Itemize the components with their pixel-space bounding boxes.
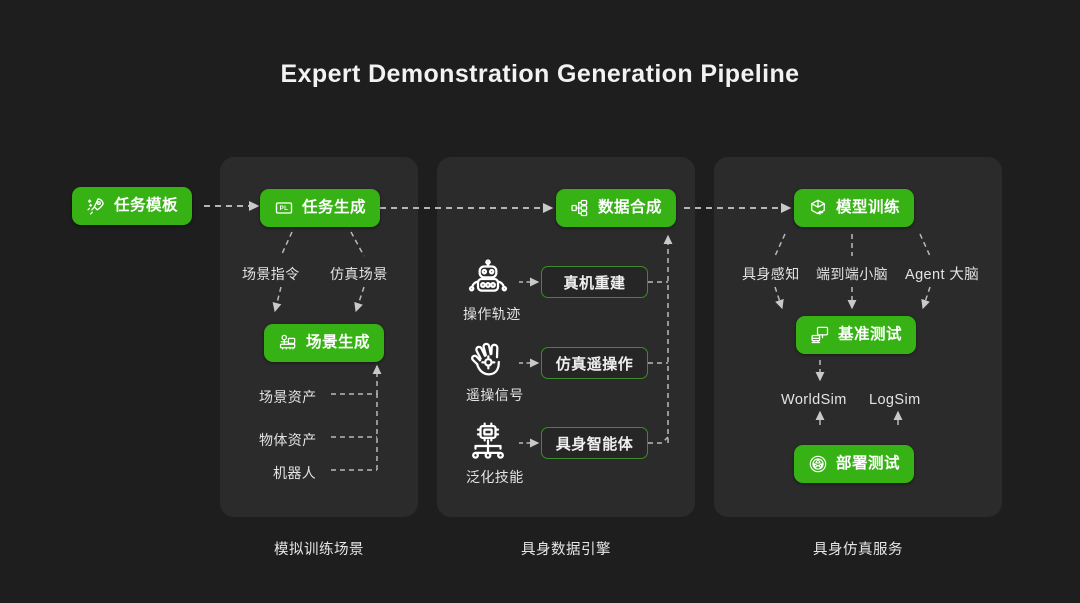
label-operation-trajectory: 操作轨迹: [463, 304, 521, 324]
node-label: 数据合成: [598, 200, 662, 216]
caption-panel-1: 模拟训练场景: [220, 538, 418, 559]
box-real-machine-reconstruction[interactable]: 真机重建: [541, 266, 648, 298]
svg-text:PL: PL: [280, 205, 289, 212]
rocket-icon: [86, 196, 106, 216]
label-sim-scene: 仿真场景: [330, 264, 388, 284]
data-flow-icon: [570, 198, 590, 218]
scene-robot-icon: [278, 333, 298, 353]
task-frame-icon: PL: [274, 198, 294, 218]
node-label: 基准测试: [838, 327, 902, 343]
caption-panel-2: 具身数据引擎: [437, 538, 695, 559]
node-label: 场景生成: [306, 335, 370, 351]
node-benchmark-test[interactable]: 基准测试: [796, 316, 916, 354]
page-title: Expert Demonstration Generation Pipeline: [0, 60, 1080, 89]
node-task-generation[interactable]: PL 任务生成: [260, 189, 380, 227]
node-deployment-test[interactable]: 部署测试: [794, 445, 914, 483]
label-logsim: LogSim: [869, 392, 921, 408]
label-robot: 机器人: [273, 463, 316, 483]
label-end-to-end-cerebellum: 端到端小脑: [816, 264, 888, 284]
box-simulated-teleoperation[interactable]: 仿真遥操作: [541, 347, 648, 379]
glove-icon: [468, 340, 508, 380]
recycle-circle-icon: [808, 454, 828, 474]
chip-network-icon: [468, 422, 508, 462]
pipeline-diagram: Expert Demonstration Generation Pipeline: [0, 0, 1080, 603]
box-embodied-agent[interactable]: 具身智能体: [541, 427, 648, 459]
node-label: 任务生成: [302, 200, 366, 216]
node-label: 部署测试: [836, 456, 900, 472]
node-label: 模型训练: [836, 200, 900, 216]
node-model-training[interactable]: 模型训练: [794, 189, 914, 227]
label-scene-instruction: 场景指令: [242, 264, 300, 284]
label-embodied-perception: 具身感知: [742, 264, 800, 284]
caption-panel-3: 具身仿真服务: [714, 538, 1002, 559]
node-task-template[interactable]: 任务模板: [72, 187, 192, 225]
label-agent-brain: Agent 大脑: [905, 263, 979, 284]
cube-return-icon: [808, 198, 828, 218]
node-scene-generation[interactable]: 场景生成: [264, 324, 384, 362]
label-object-assets: 物体资产: [259, 430, 317, 450]
label-generalization-skill: 泛化技能: [466, 467, 524, 487]
node-data-synthesis[interactable]: 数据合成: [556, 189, 676, 227]
benchmark-screen-icon: [810, 325, 830, 345]
node-label: 任务模板: [114, 198, 178, 214]
label-worldsim: WorldSim: [781, 392, 847, 408]
label-teleoperation-signal: 遥操信号: [466, 385, 524, 405]
robot-icon: [468, 259, 508, 299]
label-scene-assets: 场景资产: [259, 387, 317, 407]
